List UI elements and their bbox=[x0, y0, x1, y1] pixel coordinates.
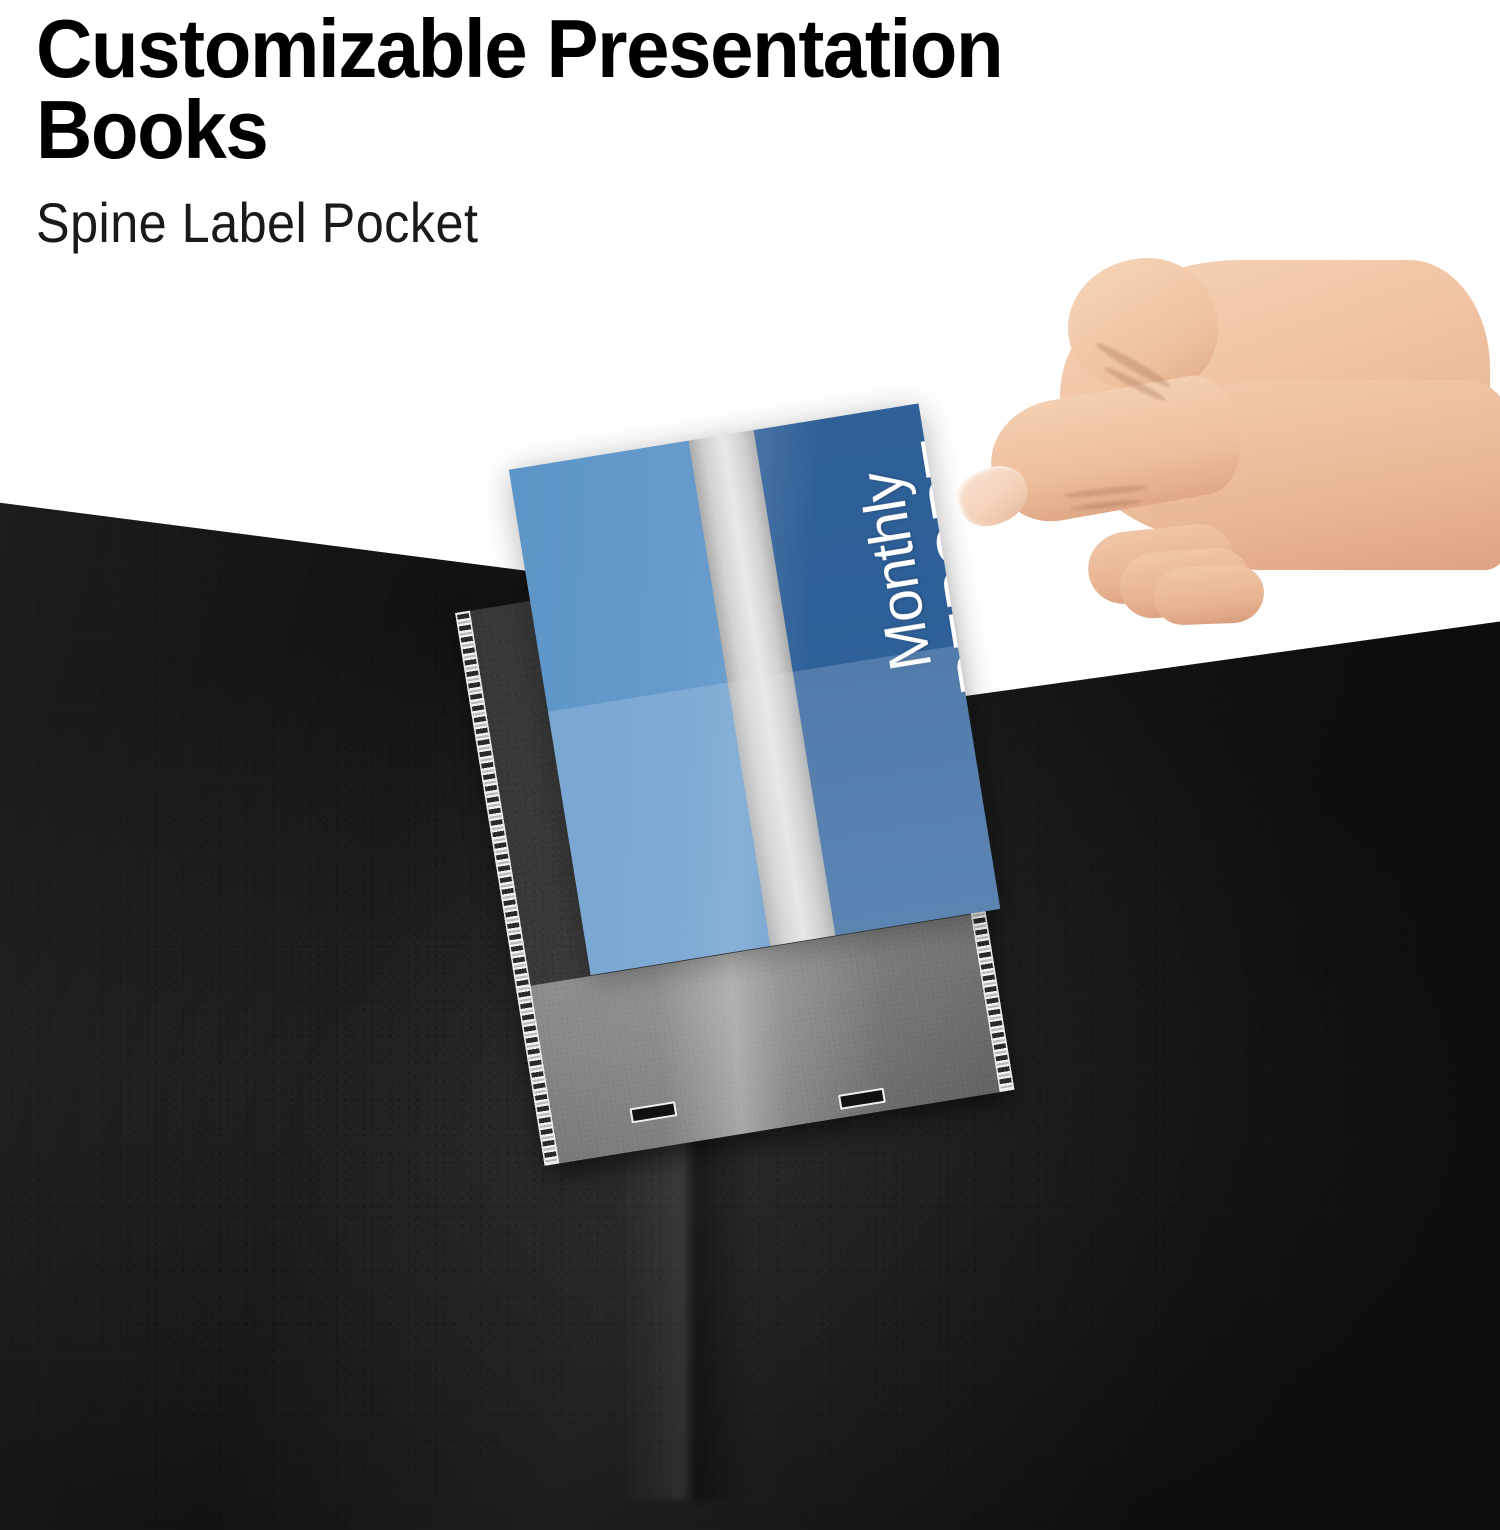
page-subtitle: Spine Label Pocket bbox=[36, 191, 1206, 255]
spine-label-card-face: MONTHLY REPORT DUNWELL GROUP Monthly REP… bbox=[509, 403, 1001, 975]
hand-finger-3 bbox=[1153, 564, 1265, 626]
page-title: Customizable Presentation Books bbox=[36, 0, 1258, 171]
hand bbox=[940, 250, 1500, 720]
spine-label-card[interactable]: MONTHLY REPORT DUNWELL GROUP Monthly REP… bbox=[509, 403, 1001, 975]
cover-spine-crease bbox=[615, 1140, 745, 1500]
header-block: Customizable Presentation Books Spine La… bbox=[36, 0, 1336, 255]
